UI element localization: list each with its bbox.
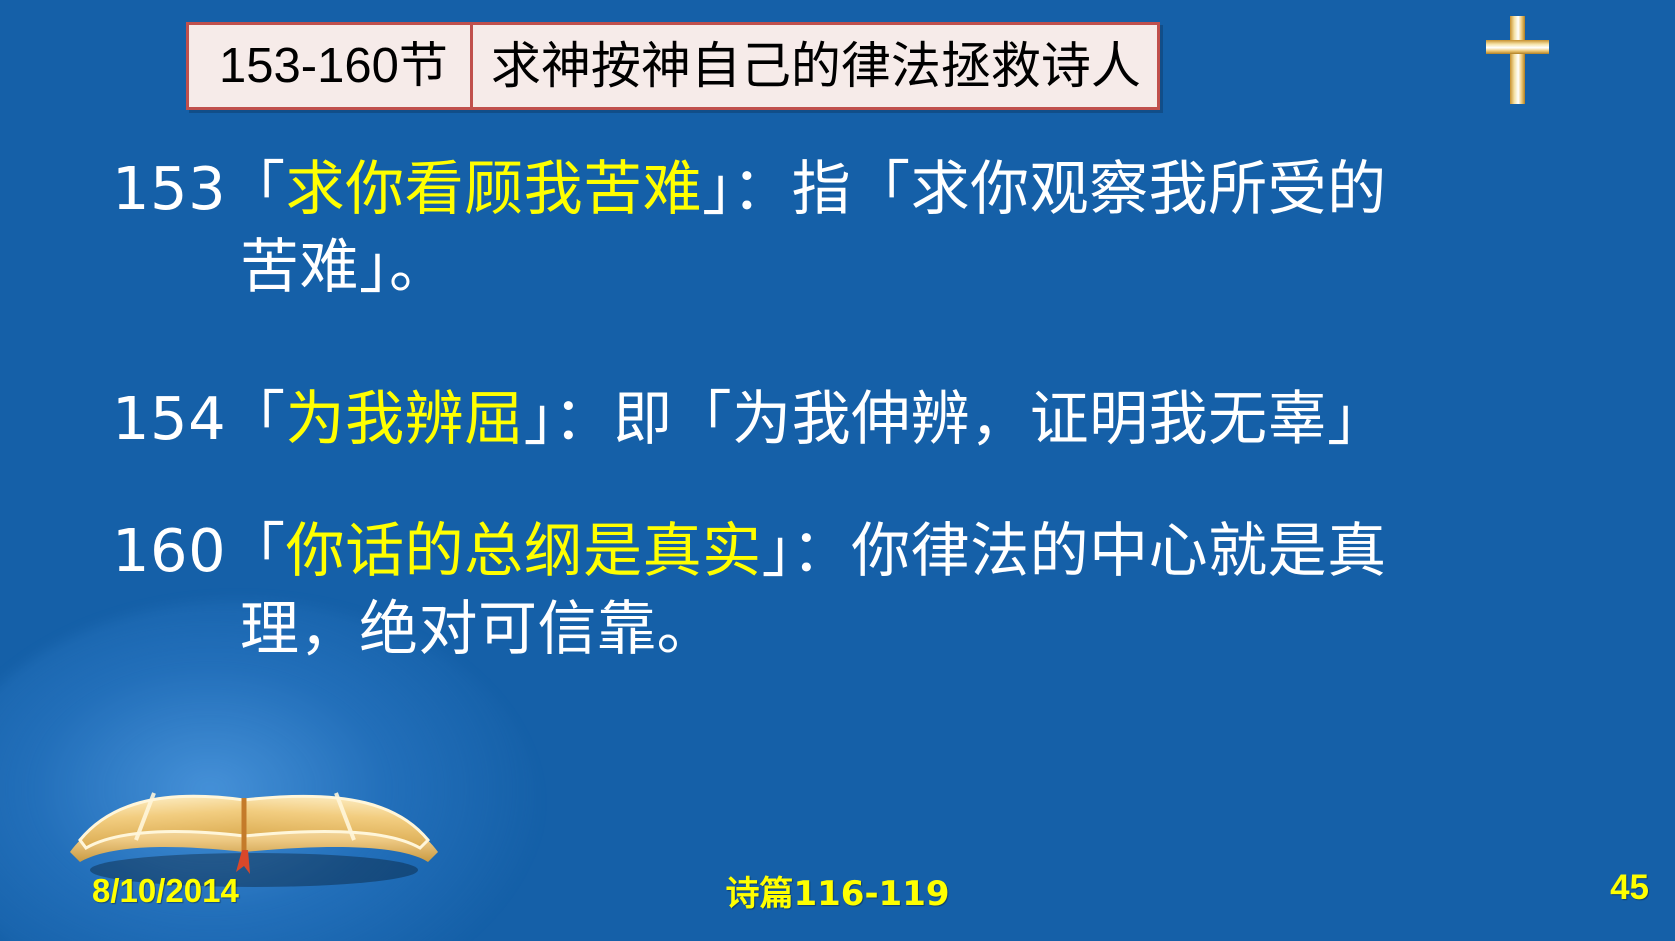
verse-open-bracket: 「 — [226, 154, 286, 223]
slide-canvas: 153-160节 求神按神自己的律法拯救诗人 — [0, 0, 1675, 941]
verse-continuation: 苦难」。 — [112, 228, 1615, 306]
verse-explanation: ：指「求你观察我所受的 — [732, 154, 1387, 223]
verse-close-bracket: 」 — [524, 384, 554, 453]
verse-open-bracket: 「 — [226, 516, 286, 585]
verse-highlight: 为我辨屈 — [286, 384, 524, 453]
verse-item-154: 154「为我辨屈」：即「为我伸辨，证明我无辜」 — [0, 380, 1675, 458]
verse-explanation: ：你律法的中心就是真 — [792, 516, 1387, 585]
verse-highlight: 求你看顾我苦难 — [286, 154, 703, 223]
verse-spacer — [0, 306, 1675, 380]
verse-list: 153「求你看顾我苦难」：指「求你观察我所受的 苦难」。 154「为我辨屈」：即… — [0, 150, 1675, 667]
header-title-box: 153-160节 求神按神自己的律法拯救诗人 — [186, 22, 1160, 110]
verse-number: 154 — [112, 384, 226, 453]
verse-close-bracket: 」 — [702, 154, 732, 223]
verse-number: 153 — [112, 154, 226, 223]
verse-highlight: 你话的总纲是真实 — [286, 516, 762, 585]
footer-reference: 诗篇116-119 — [0, 866, 1675, 915]
verse-explanation: ：即「为我伸辨，证明我无辜」 — [554, 384, 1387, 453]
verse-number: 160 — [112, 516, 226, 585]
verse-item-160: 160「你话的总纲是真实」：你律法的中心就是真 理，绝对可信靠。 — [0, 512, 1675, 668]
page-title: 求神按神自己的律法拯救诗人 — [473, 25, 1157, 107]
header-verse-range: 153-160节 — [189, 25, 473, 107]
verse-open-bracket: 「 — [226, 384, 286, 453]
page-number: 45 — [1610, 868, 1649, 908]
verse-spacer — [0, 458, 1675, 512]
verse-close-bracket: 」 — [762, 516, 792, 585]
cross-icon — [1478, 14, 1556, 106]
verse-item-153: 153「求你看顾我苦难」：指「求你观察我所受的 苦难」。 — [0, 150, 1675, 306]
verse-continuation: 理，绝对可信靠。 — [112, 590, 1615, 668]
